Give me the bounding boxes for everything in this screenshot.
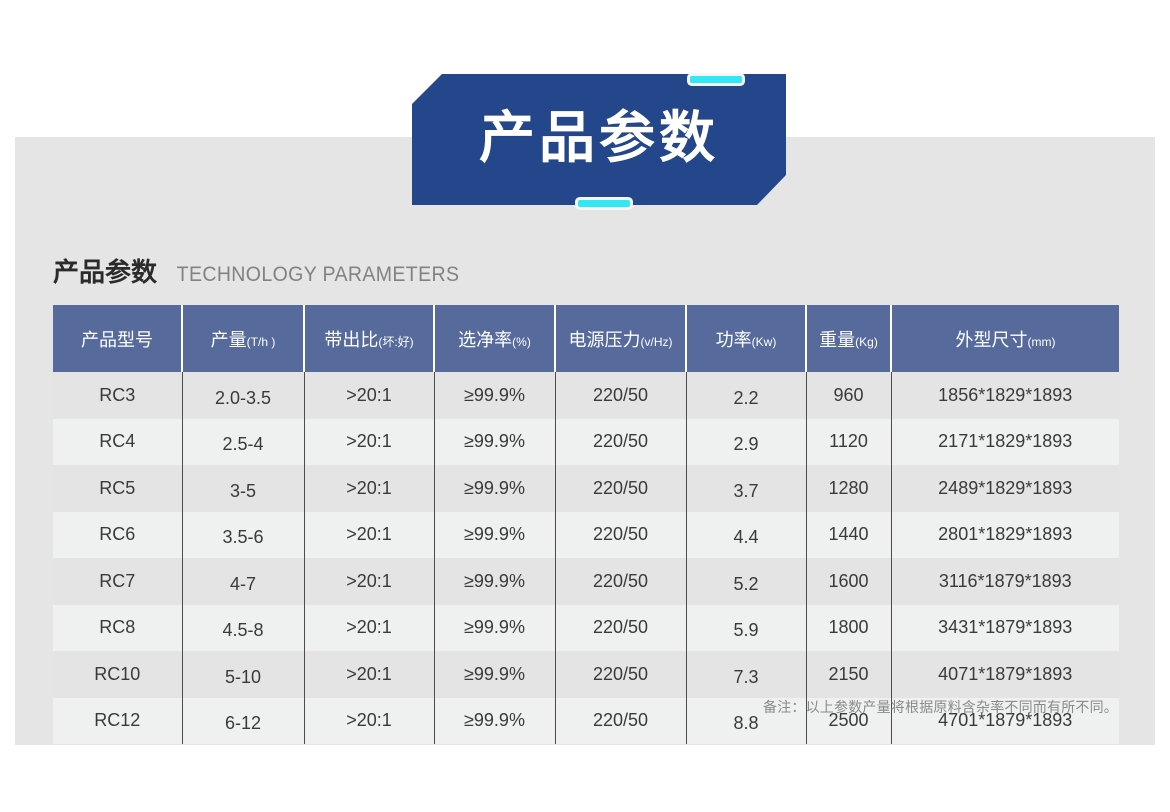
cell-model: RC6 — [53, 512, 182, 559]
cell-weight: 1600 — [806, 558, 891, 605]
parameters-table: 产品型号 产量(T/h ) 带出比(坏:好) 选净率(%) 电源压力(v/Hz)… — [53, 305, 1119, 744]
cell-capacity: 2.0-3.5 — [182, 372, 304, 419]
cell-weight: 1280 — [806, 465, 891, 512]
cell-carryover-ratio: >20:1 — [304, 372, 434, 419]
cell-dimensions: 2801*1829*1893 — [891, 512, 1119, 559]
cell-power: 7.3 — [686, 651, 806, 698]
cell-capacity: 5-10 — [182, 651, 304, 698]
table-row: RC63.5-6>20:1≥99.9%220/504.414402801*182… — [53, 512, 1119, 559]
table-row: RC84.5-8>20:1≥99.9%220/505.918003431*187… — [53, 605, 1119, 652]
cell-power: 2.2 — [686, 372, 806, 419]
cell-weight: 1800 — [806, 605, 891, 652]
cell-purity-rate: ≥99.9% — [434, 512, 555, 559]
section-heading: 产品参数 TECHNOLOGY PARAMETERS — [53, 252, 470, 289]
banner-title: 产品参数 — [412, 74, 786, 205]
column-header-capacity: 产量(T/h ) — [182, 305, 304, 372]
cell-purity-rate: ≥99.9% — [434, 698, 555, 745]
cell-dimensions: 3116*1879*1893 — [891, 558, 1119, 605]
cell-power-supply: 220/50 — [555, 512, 686, 559]
cell-weight: 960 — [806, 372, 891, 419]
cell-dimensions: 4071*1879*1893 — [891, 651, 1119, 698]
cell-power-supply: 220/50 — [555, 651, 686, 698]
cell-purity-rate: ≥99.9% — [434, 651, 555, 698]
table-row: RC42.5-4>20:1≥99.9%220/502.911202171*182… — [53, 419, 1119, 466]
table-row: RC53-5>20:1≥99.9%220/503.712802489*1829*… — [53, 465, 1119, 512]
cell-purity-rate: ≥99.9% — [434, 558, 555, 605]
column-header-purity-rate: 选净率(%) — [434, 305, 555, 372]
cell-carryover-ratio: >20:1 — [304, 558, 434, 605]
cell-power-supply: 220/50 — [555, 698, 686, 745]
table-header-row: 产品型号 产量(T/h ) 带出比(坏:好) 选净率(%) 电源压力(v/Hz)… — [53, 305, 1119, 372]
cell-weight: 1440 — [806, 512, 891, 559]
column-header-dimensions: 外型尺寸(mm) — [891, 305, 1119, 372]
cell-carryover-ratio: >20:1 — [304, 465, 434, 512]
page-banner: 产品参数 — [412, 74, 786, 205]
cell-capacity: 3-5 — [182, 465, 304, 512]
cell-carryover-ratio: >20:1 — [304, 512, 434, 559]
cell-model: RC3 — [53, 372, 182, 419]
cell-dimensions: 2171*1829*1893 — [891, 419, 1119, 466]
section-heading-cn: 产品参数 — [53, 252, 157, 289]
table-row: RC32.0-3.5>20:1≥99.9%220/502.29601856*18… — [53, 372, 1119, 419]
cell-power: 3.7 — [686, 465, 806, 512]
cell-purity-rate: ≥99.9% — [434, 372, 555, 419]
table-footnote: 备注：以上参数产量将根据原料含杂率不同而有所不同。 — [763, 697, 1118, 717]
table-row: RC105-10>20:1≥99.9%220/507.321504071*187… — [53, 651, 1119, 698]
cell-power: 4.4 — [686, 512, 806, 559]
cell-capacity: 4-7 — [182, 558, 304, 605]
cell-power-supply: 220/50 — [555, 558, 686, 605]
cell-capacity: 3.5-6 — [182, 512, 304, 559]
cell-model: RC8 — [53, 605, 182, 652]
cell-weight: 1120 — [806, 419, 891, 466]
cell-power-supply: 220/50 — [555, 465, 686, 512]
cell-power: 5.2 — [686, 558, 806, 605]
cell-purity-rate: ≥99.9% — [434, 419, 555, 466]
cell-model: RC4 — [53, 419, 182, 466]
table-row: RC74-7>20:1≥99.9%220/505.216003116*1879*… — [53, 558, 1119, 605]
cell-power: 2.9 — [686, 419, 806, 466]
cell-model: RC5 — [53, 465, 182, 512]
cell-capacity: 2.5-4 — [182, 419, 304, 466]
cell-power-supply: 220/50 — [555, 419, 686, 466]
column-header-weight: 重量(Kg) — [806, 305, 891, 372]
cell-model: RC12 — [53, 698, 182, 745]
column-header-power-supply: 电源压力(v/Hz) — [555, 305, 686, 372]
cell-capacity: 6-12 — [182, 698, 304, 745]
section-heading-en: TECHNOLOGY PARAMETERS — [177, 263, 460, 287]
cell-dimensions: 2489*1829*1893 — [891, 465, 1119, 512]
cell-power-supply: 220/50 — [555, 605, 686, 652]
cell-power: 5.9 — [686, 605, 806, 652]
cell-dimensions: 3431*1879*1893 — [891, 605, 1119, 652]
cell-carryover-ratio: >20:1 — [304, 419, 434, 466]
cell-weight: 2150 — [806, 651, 891, 698]
cell-carryover-ratio: >20:1 — [304, 698, 434, 745]
cell-capacity: 4.5-8 — [182, 605, 304, 652]
cell-carryover-ratio: >20:1 — [304, 651, 434, 698]
cell-dimensions: 1856*1829*1893 — [891, 372, 1119, 419]
cell-model: RC7 — [53, 558, 182, 605]
column-header-model: 产品型号 — [53, 305, 182, 372]
column-header-power: 功率(Kw) — [686, 305, 806, 372]
column-header-carryover-ratio: 带出比(坏:好) — [304, 305, 434, 372]
cell-purity-rate: ≥99.9% — [434, 465, 555, 512]
cell-carryover-ratio: >20:1 — [304, 605, 434, 652]
cell-power-supply: 220/50 — [555, 372, 686, 419]
cell-model: RC10 — [53, 651, 182, 698]
cell-purity-rate: ≥99.9% — [434, 605, 555, 652]
